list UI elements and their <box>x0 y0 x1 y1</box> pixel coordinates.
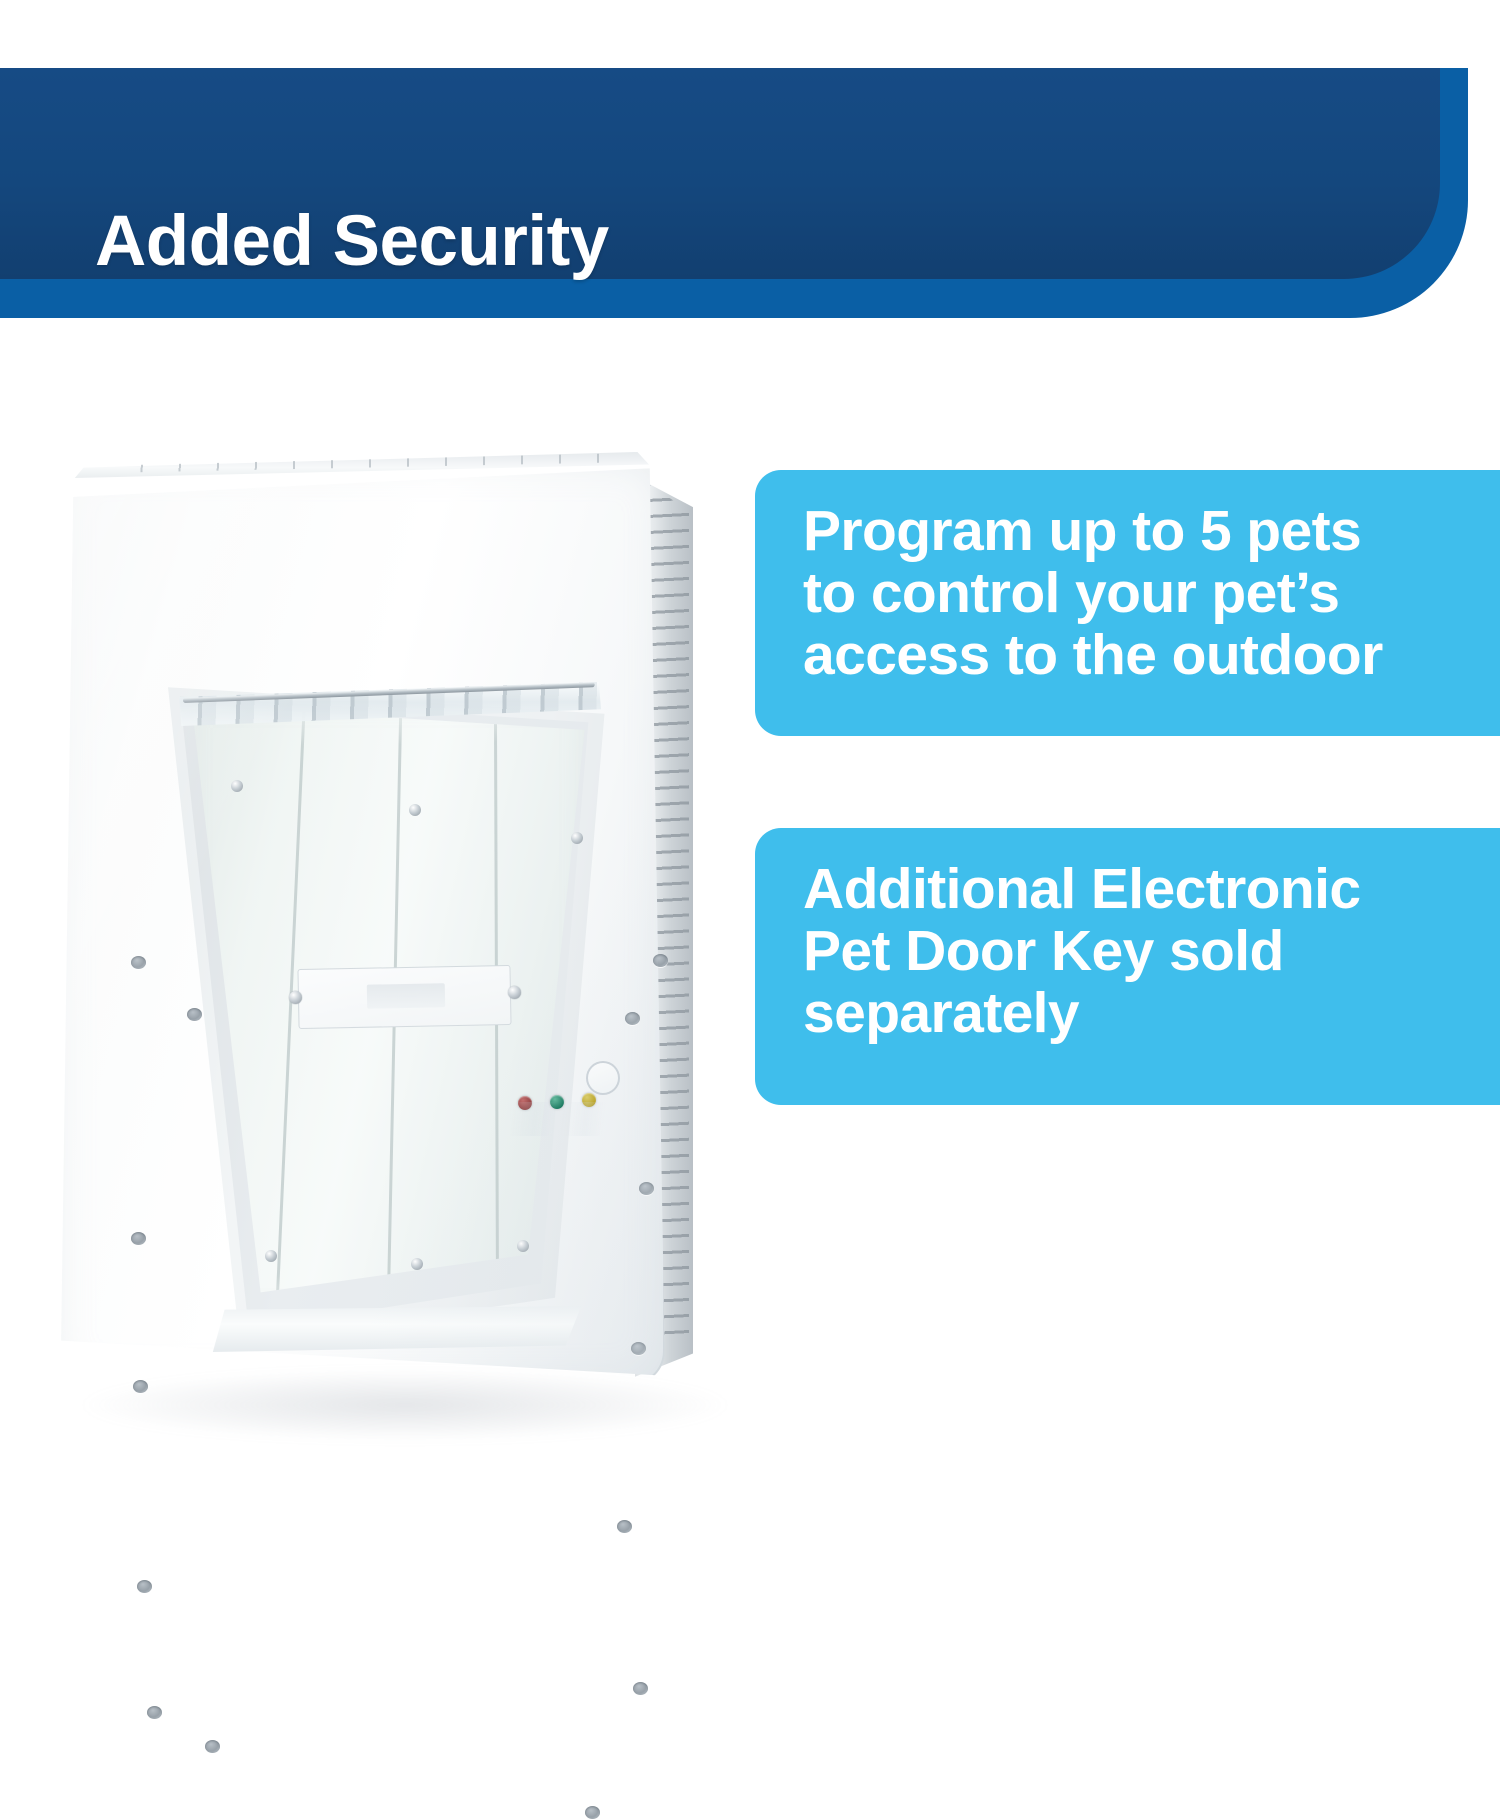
flap-screw <box>411 1258 423 1270</box>
header-banner-main-layer: Added Security <box>0 68 1440 279</box>
battery-plate-screw <box>289 991 302 1004</box>
battery-plate-screw <box>508 986 521 999</box>
callout-line: Pet Door Key sold <box>803 920 1475 982</box>
callout-line: Additional Electronic <box>803 858 1475 920</box>
frame-screw-hole <box>133 1380 148 1393</box>
battery-cover-plate <box>297 965 511 1029</box>
frame-screw-hole <box>625 1012 640 1025</box>
frame-screw-hole <box>631 1342 646 1355</box>
frame-screw-hole <box>617 1520 632 1533</box>
header-banner: Added Security <box>0 68 1500 318</box>
flap-bottom-sill <box>205 1306 597 1352</box>
frame-screw-hole <box>137 1580 152 1593</box>
callout-program-pets: Program up to 5 pets to control your pet… <box>755 470 1500 736</box>
callout-line: Program up to 5 pets <box>803 500 1475 562</box>
flap-screw <box>571 832 583 844</box>
callout-additional-key: Additional Electronic Pet Door Key sold … <box>755 828 1500 1105</box>
brand-logo-emboss <box>367 983 445 1008</box>
frame-screw-hole <box>147 1706 162 1719</box>
flap-screw <box>265 1250 277 1262</box>
mode-button[interactable] <box>586 1061 620 1095</box>
callout-line: access to the outdoor <box>803 624 1475 686</box>
frame-screw-hole <box>187 1008 202 1021</box>
frame-screw-hole <box>585 1806 600 1819</box>
frame-screw-hole <box>653 954 668 967</box>
frame-screw-hole <box>131 1232 146 1245</box>
flap-screw <box>409 804 421 816</box>
frame-screw-hole <box>205 1740 220 1753</box>
frame-screw-hole <box>633 1682 648 1695</box>
callout-line: separately <box>803 982 1475 1044</box>
flap-screw <box>517 1240 529 1252</box>
frame-screw-hole <box>639 1182 654 1195</box>
callout-line: to control your pet’s <box>803 562 1475 624</box>
flap-screw <box>231 780 243 792</box>
page-title: Added Security <box>95 206 609 277</box>
control-panel-labels <box>510 1102 640 1136</box>
frame-screw-hole <box>131 956 146 969</box>
product-drop-shadow <box>85 1370 725 1440</box>
product-image-electronic-pet-door <box>55 440 755 1440</box>
